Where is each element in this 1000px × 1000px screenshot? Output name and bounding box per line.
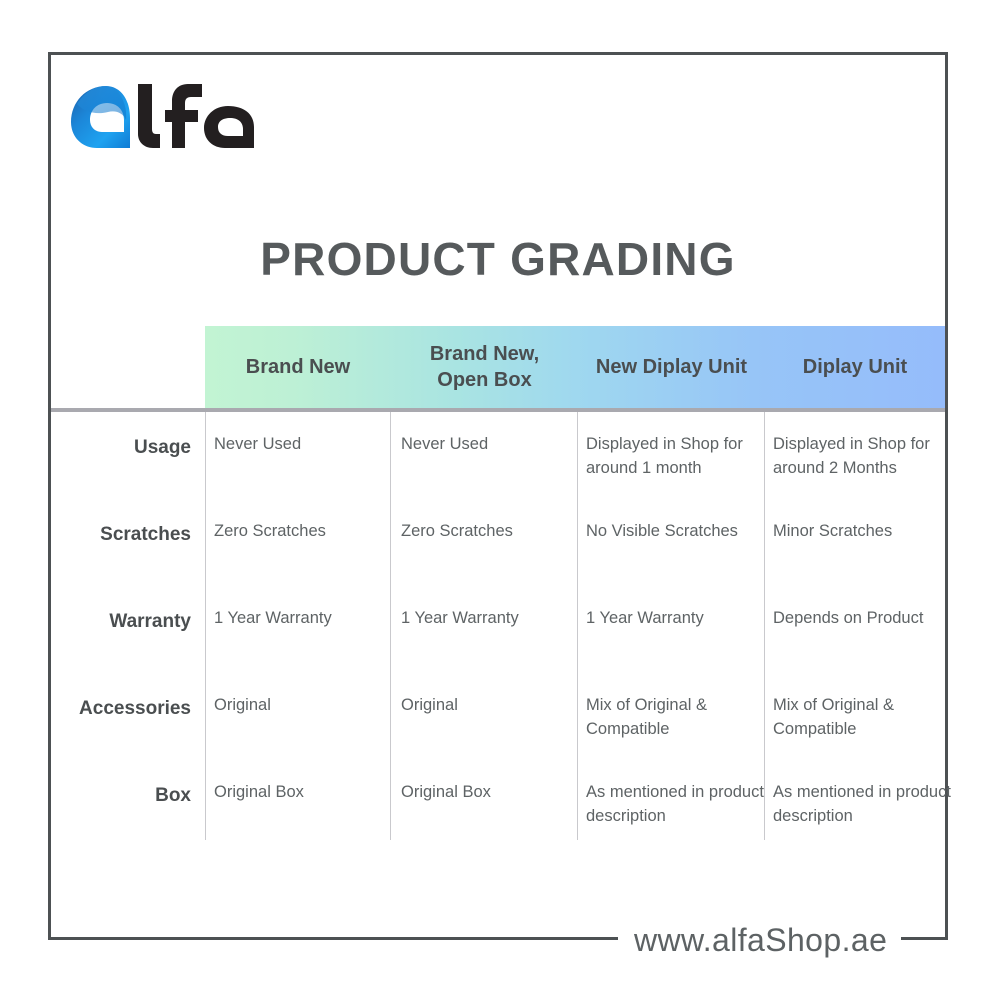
table-cell: Zero Scratches [214,519,386,543]
column-header-new-diplay-unit: New Diplay Unit [578,326,765,408]
table-cell: Depends on Product [773,606,958,630]
table-cell: Original [214,693,386,717]
column-header-label: Brand New [246,354,350,380]
table-body: Usage Never Used Never Used Displayed in… [51,418,945,853]
column-header-brand-new: Brand New [205,326,391,408]
page-title: PRODUCT GRADING [48,232,948,286]
row-label-usage: Usage [51,436,191,460]
row-label-scratches: Scratches [51,523,191,547]
table-cell: Zero Scratches [401,519,573,543]
table-header-band: Brand New Brand New, Open Box New Diplay… [205,326,945,408]
table-row: Warranty 1 Year Warranty 1 Year Warranty… [51,592,945,679]
logo-letter-l-icon [138,84,160,148]
column-header-label: New Diplay Unit [596,354,747,380]
row-label-accessories: Accessories [51,697,191,721]
table-cell: Displayed in Shop for around 2 Months [773,432,958,480]
column-header-label-line2: Open Box [437,369,531,391]
table-cell: Minor Scratches [773,519,958,543]
table-row: Accessories Original Original Mix of Ori… [51,679,945,766]
table-cell: Original Box [214,780,386,804]
table-cell: Original Box [401,780,573,804]
table-row: Box Original Box Original Box As mention… [51,766,945,853]
column-header-brand-new-open-box: Brand New, Open Box [391,326,578,408]
table-cell: 1 Year Warranty [401,606,573,630]
product-grading-table: Brand New Brand New, Open Box New Diplay… [51,326,945,842]
table-header-divider [51,408,945,412]
table-cell: 1 Year Warranty [214,606,386,630]
row-label-box: Box [51,784,191,808]
column-header-label: Diplay Unit [803,354,907,380]
logo-letter-f-icon [165,84,202,148]
logo-letter-a2-icon [204,106,254,148]
alfa-droplet-logo-icon [68,82,268,152]
table-cell: As mentioned in product description [773,780,958,828]
table-row: Scratches Zero Scratches Zero Scratches … [51,505,945,592]
footer-website: www.alfaShop.ae [618,912,901,968]
column-header-label-line1: Brand New, [430,343,539,365]
alfa-logo [68,82,268,152]
column-header-label: Brand New, Open Box [430,341,539,393]
table-cell: As mentioned in product description [586,780,766,828]
table-cell: No Visible Scratches [586,519,766,543]
table-cell: Never Used [401,432,573,456]
table-cell: Never Used [214,432,386,456]
table-cell: Mix of Original & Compatible [586,693,766,741]
row-label-warranty: Warranty [51,610,191,634]
table-cell: Displayed in Shop for around 1 month [586,432,766,480]
website-url[interactable]: www.alfaShop.ae [634,922,887,959]
table-cell: 1 Year Warranty [586,606,766,630]
column-header-diplay-unit: Diplay Unit [765,326,945,408]
table-row: Usage Never Used Never Used Displayed in… [51,418,945,505]
table-cell: Original [401,693,573,717]
table-cell: Mix of Original & Compatible [773,693,958,741]
infographic-page: PRODUCT GRADING Brand New Brand New, Ope… [0,0,1000,1000]
